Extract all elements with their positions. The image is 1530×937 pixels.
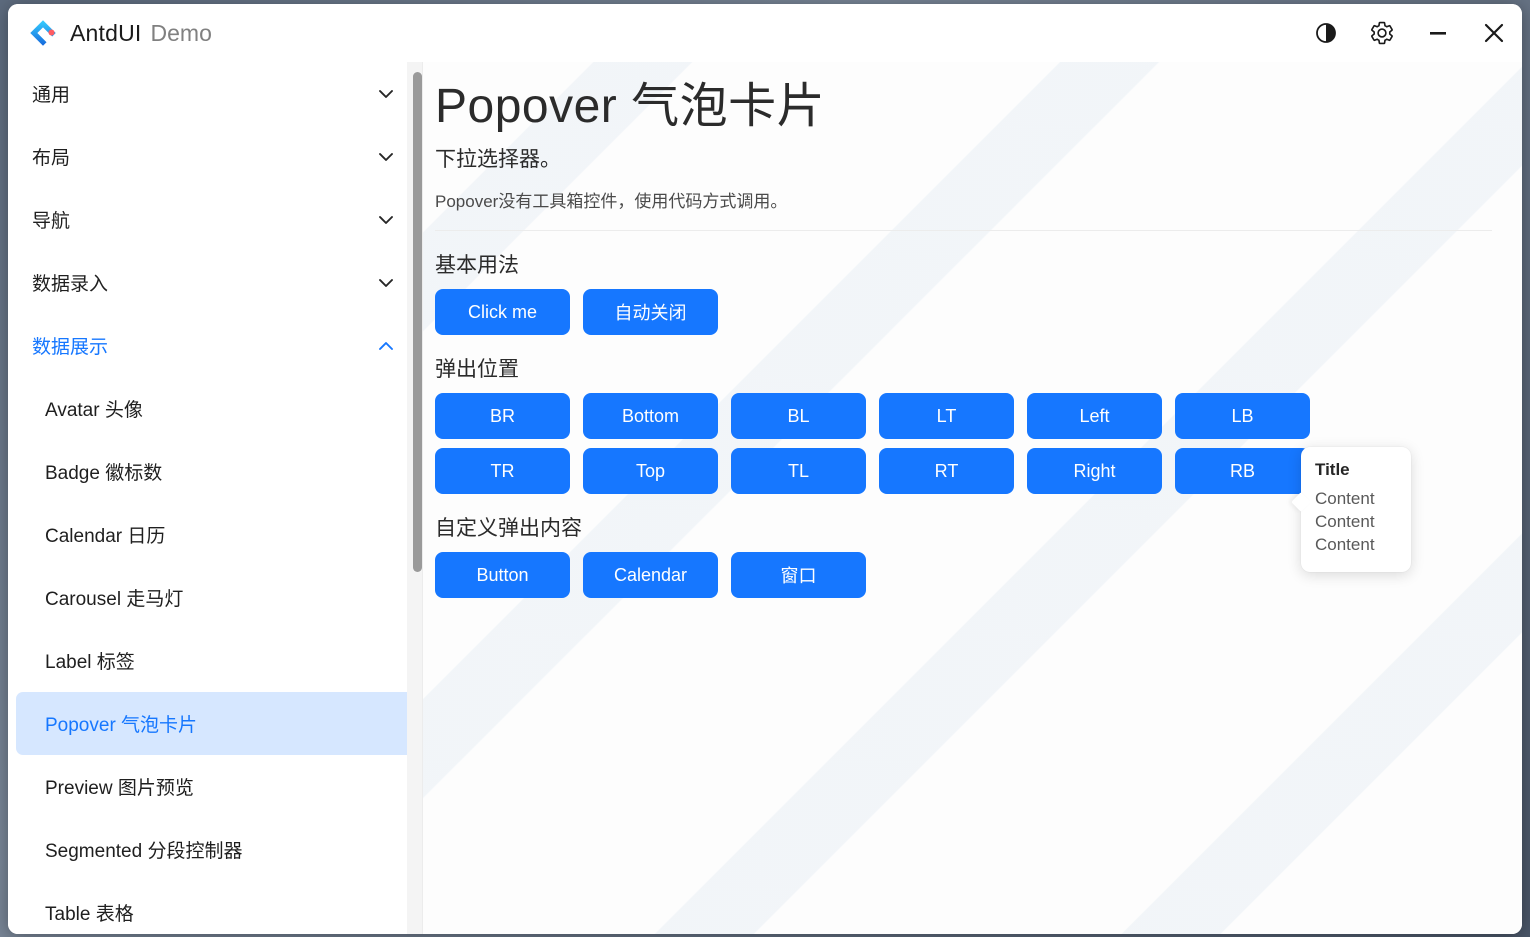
sidebar-item-segmented[interactable]: Segmented 分段控制器 bbox=[16, 818, 414, 881]
placement-rt-button[interactable]: RT bbox=[879, 448, 1014, 494]
sidebar-scrollbar-thumb[interactable] bbox=[413, 72, 422, 572]
sidebar-item-carousel[interactable]: Carousel 走马灯 bbox=[16, 566, 414, 629]
custom-calendar-button[interactable]: Calendar bbox=[583, 552, 718, 598]
sidebar-group-label: 数据录入 bbox=[32, 269, 376, 296]
placement-top-button[interactable]: Top bbox=[583, 448, 718, 494]
chevron-down-icon bbox=[376, 273, 396, 293]
sidebar-group-tongyong[interactable]: 通用 bbox=[8, 62, 422, 125]
popover-card: Title Content Content Content bbox=[1301, 447, 1411, 572]
placement-tl-button[interactable]: TL bbox=[731, 448, 866, 494]
sidebar-group-shujuluru[interactable]: 数据录入 bbox=[8, 251, 422, 314]
sidebar: 通用 布局 导航 bbox=[8, 62, 423, 934]
minimize-button[interactable] bbox=[1410, 5, 1466, 61]
section-title-basic: 基本用法 bbox=[435, 249, 1492, 279]
placement-right-button[interactable]: Right bbox=[1027, 448, 1162, 494]
page-description: Popover没有工具箱控件，使用代码方式调用。 bbox=[435, 187, 1492, 212]
custom-button-button[interactable]: Button bbox=[435, 552, 570, 598]
placement-br-button[interactable]: BR bbox=[435, 393, 570, 439]
app-title-suffix: Demo bbox=[151, 20, 212, 47]
page-subtitle: 下拉选择器。 bbox=[435, 143, 1492, 173]
sidebar-group-buju[interactable]: 布局 bbox=[8, 125, 422, 188]
button-row-placement-1: BR Bottom BL LT Left LB bbox=[435, 393, 1492, 439]
chevron-down-icon bbox=[376, 147, 396, 167]
section-title-placement: 弹出位置 bbox=[435, 353, 1492, 383]
app-title: AntdUI bbox=[70, 20, 142, 47]
sidebar-group-daohang[interactable]: 导航 bbox=[8, 188, 422, 251]
popover-content-line: Content bbox=[1315, 534, 1397, 557]
placement-bottom-button[interactable]: Bottom bbox=[583, 393, 718, 439]
page-title: Popover 气泡卡片 bbox=[435, 76, 1492, 137]
chevron-down-icon bbox=[376, 210, 396, 230]
sidebar-item-preview[interactable]: Preview 图片预览 bbox=[16, 755, 414, 818]
custom-window-button[interactable]: 窗口 bbox=[731, 552, 866, 598]
placement-left-button[interactable]: Left bbox=[1027, 393, 1162, 439]
desktop-backdrop: AntdUI Demo bbox=[0, 0, 1530, 937]
sidebar-item-label[interactable]: Label 标签 bbox=[16, 629, 414, 692]
popover-title: Title bbox=[1315, 460, 1397, 480]
chevron-up-icon bbox=[376, 336, 396, 356]
placement-rb-button[interactable]: RB bbox=[1175, 448, 1310, 494]
sidebar-group-label: 导航 bbox=[32, 206, 376, 233]
sidebar-group-label: 通用 bbox=[32, 80, 376, 107]
button-row-basic: Click me 自动关闭 bbox=[435, 289, 1492, 335]
placement-tr-button[interactable]: TR bbox=[435, 448, 570, 494]
sidebar-group-label: 布局 bbox=[32, 143, 376, 170]
chevron-down-icon bbox=[376, 84, 396, 104]
click-me-button[interactable]: Click me bbox=[435, 289, 570, 335]
sidebar-item-calendar[interactable]: Calendar 日历 bbox=[16, 503, 414, 566]
title-bar: AntdUI Demo bbox=[8, 4, 1522, 62]
minimize-icon bbox=[1425, 20, 1451, 46]
sidebar-scroll-area: 通用 布局 导航 bbox=[8, 62, 422, 934]
sidebar-group-label: 数据展示 bbox=[32, 332, 376, 359]
close-icon bbox=[1480, 19, 1508, 47]
popover-content-line: Content bbox=[1315, 488, 1397, 511]
sidebar-group-shujuzhanshi[interactable]: 数据展示 bbox=[8, 314, 422, 377]
app-window: AntdUI Demo bbox=[8, 4, 1522, 934]
sidebar-item-popover[interactable]: Popover 气泡卡片 bbox=[16, 692, 414, 755]
close-button[interactable] bbox=[1466, 5, 1522, 61]
auto-close-button[interactable]: 自动关闭 bbox=[583, 289, 718, 335]
sidebar-item-avatar[interactable]: Avatar 头像 bbox=[16, 377, 414, 440]
sidebar-item-table[interactable]: Table 表格 bbox=[16, 881, 414, 934]
placement-lb-button[interactable]: LB bbox=[1175, 393, 1310, 439]
header-divider bbox=[435, 230, 1492, 231]
sidebar-item-badge[interactable]: Badge 徽标数 bbox=[16, 440, 414, 503]
placement-lt-button[interactable]: LT bbox=[879, 393, 1014, 439]
theme-toggle-button[interactable] bbox=[1298, 5, 1354, 61]
antdui-logo-icon bbox=[28, 18, 58, 48]
popover-content-line: Content bbox=[1315, 511, 1397, 534]
gear-icon bbox=[1369, 20, 1395, 46]
placement-bl-button[interactable]: BL bbox=[731, 393, 866, 439]
half-circle-contrast-icon bbox=[1314, 21, 1338, 45]
settings-button[interactable] bbox=[1354, 5, 1410, 61]
